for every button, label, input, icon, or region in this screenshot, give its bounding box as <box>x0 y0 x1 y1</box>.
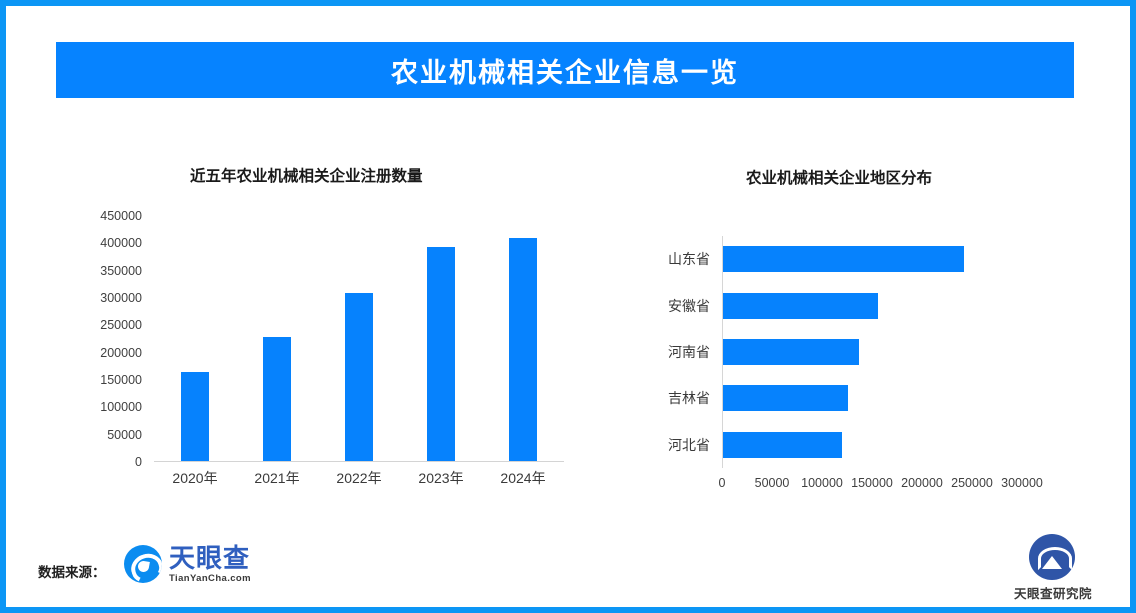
y-axis-tick: 450000 <box>62 209 142 223</box>
institute-logo: 天眼查研究院 <box>1014 534 1090 602</box>
category-label: 吉林省 <box>626 388 710 408</box>
category-label: 山东省 <box>626 249 710 269</box>
horizontal-bar <box>723 293 878 319</box>
column-bar <box>345 293 373 461</box>
institute-name: 天眼查研究院 <box>1014 583 1090 602</box>
y-axis-tick: 50000 <box>62 428 142 442</box>
tianyancha-name-en: TianYanCha.com <box>169 574 251 584</box>
y-axis-tick: 300000 <box>62 291 142 305</box>
category-label: 安徽省 <box>626 296 710 316</box>
x-axis-tick: 2021年 <box>232 468 322 488</box>
data-source-label: 数据来源： <box>38 561 106 581</box>
horizontal-bar <box>723 432 842 458</box>
x-axis-tick: 2023年 <box>396 468 486 488</box>
x-axis-tick: 100000 <box>801 476 843 490</box>
horizontal-bar <box>723 385 848 411</box>
column-bar <box>181 372 209 461</box>
x-axis-tick: 250000 <box>951 476 993 490</box>
registrations-chart-title: 近五年农业机械相关企业注册数量 <box>190 164 423 186</box>
y-axis-tick: 350000 <box>62 264 142 278</box>
x-axis-tick: 2022年 <box>314 468 404 488</box>
column-bar <box>263 337 291 461</box>
category-label: 河南省 <box>626 342 710 362</box>
tianyancha-eye-icon <box>124 545 162 583</box>
tianyancha-logo: 天眼查 TianYanCha.com <box>124 545 251 584</box>
y-axis-tick: 200000 <box>62 346 142 360</box>
x-axis-line <box>154 461 564 462</box>
column-plot-area <box>154 216 564 462</box>
y-axis-tick: 150000 <box>62 373 142 387</box>
institute-mark-icon <box>1029 534 1075 580</box>
x-axis-tick: 150000 <box>851 476 893 490</box>
tianyancha-wordmark: 天眼查 TianYanCha.com <box>169 545 251 584</box>
title-banner: 农业机械相关企业信息一览 <box>56 42 1074 98</box>
x-axis-tick: 2024年 <box>478 468 568 488</box>
page-title: 农业机械相关企业信息一览 <box>391 51 739 90</box>
infographic-page: 农业机械相关企业信息一览 近五年农业机械相关企业注册数量 农业机械相关企业地区分… <box>0 0 1136 613</box>
horizontal-bar <box>723 246 964 272</box>
x-axis-tick: 200000 <box>901 476 943 490</box>
region-chart-title: 农业机械相关企业地区分布 <box>746 166 932 188</box>
category-label: 河北省 <box>626 435 710 455</box>
horizontal-bar <box>723 339 859 365</box>
y-axis-tick: 400000 <box>62 236 142 250</box>
x-axis-tick: 0 <box>719 476 726 490</box>
bar-plot-area <box>722 236 1042 468</box>
tianyancha-name-cn: 天眼查 <box>169 545 251 571</box>
y-axis-tick: 250000 <box>62 318 142 332</box>
y-axis-tick: 0 <box>62 455 142 469</box>
y-axis-tick: 100000 <box>62 400 142 414</box>
column-bar <box>427 247 455 461</box>
x-axis-tick: 300000 <box>1001 476 1043 490</box>
region-bar-chart: 山东省安徽省河南省吉林省河北省0500001000001500002000002… <box>626 236 1056 511</box>
x-axis-tick: 50000 <box>755 476 790 490</box>
column-bar <box>509 238 537 461</box>
registrations-column-chart: 0500001000001500002000002500003000003500… <box>76 216 576 506</box>
x-axis-tick: 2020年 <box>150 468 240 488</box>
